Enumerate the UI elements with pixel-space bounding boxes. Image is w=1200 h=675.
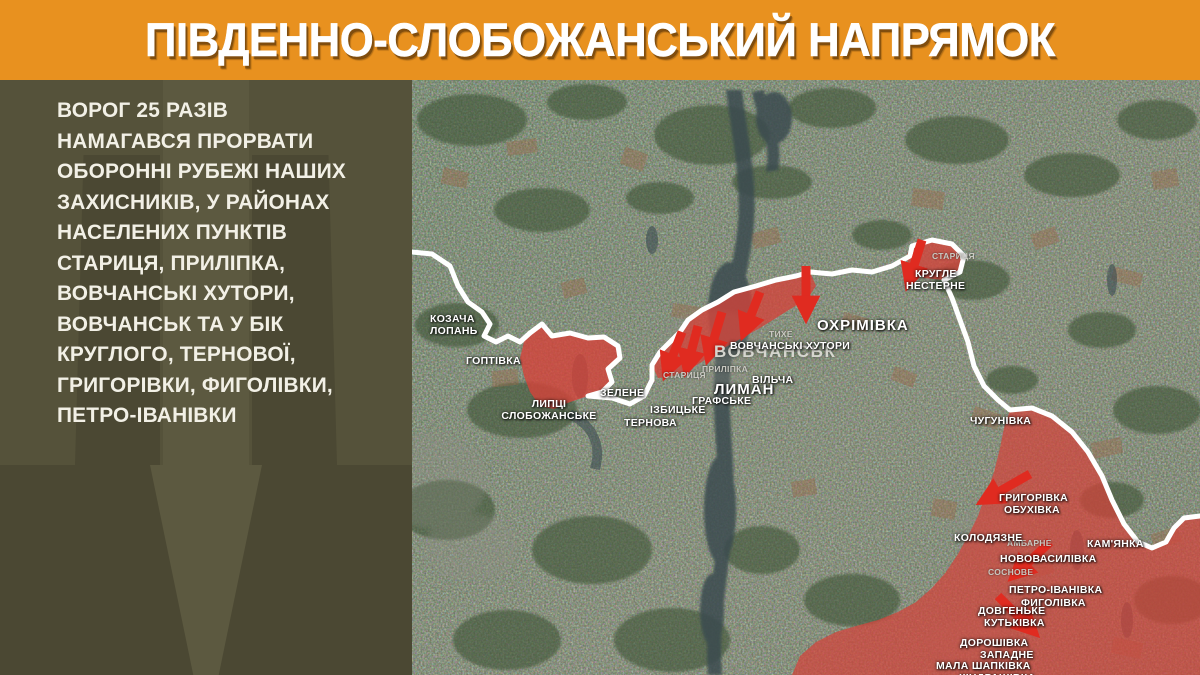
header-banner: ПІВДЕННО-СЛОБОЖАНСЬКИЙ НАПРЯМОК [0,0,1200,80]
map-graphics [412,80,1200,675]
summary-text: ВОРОГ 25 РАЗІВ НАМАГАВСЯ ПРОРВАТИ ОБОРОН… [57,95,392,431]
page-title: ПІВДЕННО-СЛОБОЖАНСЬКИЙ НАПРЯМОК [145,15,1055,65]
sidebar-panel: ВОРОГ 25 РАЗІВ НАМАГАВСЯ ПРОРВАТИ ОБОРОН… [0,80,412,675]
infographic-slide: ПІВДЕННО-СЛОБОЖАНСЬКИЙ НАПРЯМОК ВОРОГ 25… [0,0,1200,675]
tactical-map[interactable]: КОЗАЧА ЛОПАНЬ ГОПТІВКА ЛИПЦІ СЛОБОЖАНСЬК… [412,80,1200,675]
